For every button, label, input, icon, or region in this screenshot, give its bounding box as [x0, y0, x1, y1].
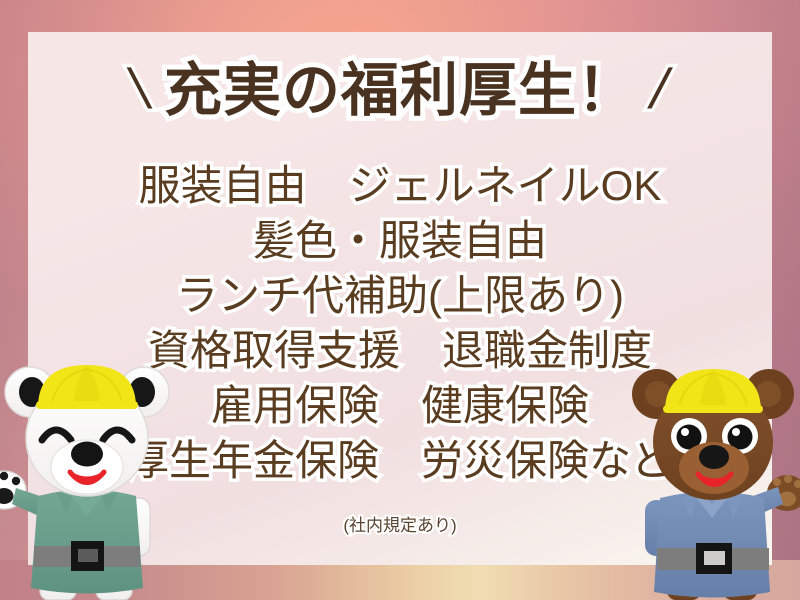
yellow-hard-hat-icon: [36, 365, 138, 409]
brown-bear-mascot: [627, 350, 800, 600]
benefits-poster: \ 充実の福利厚生！ / 服装自由 ジェルネイルOK 髪色・服装自由 ランチ代補…: [0, 0, 800, 600]
yellow-hard-hat-icon: [663, 369, 763, 413]
white-bear-mascot: [0, 350, 182, 600]
